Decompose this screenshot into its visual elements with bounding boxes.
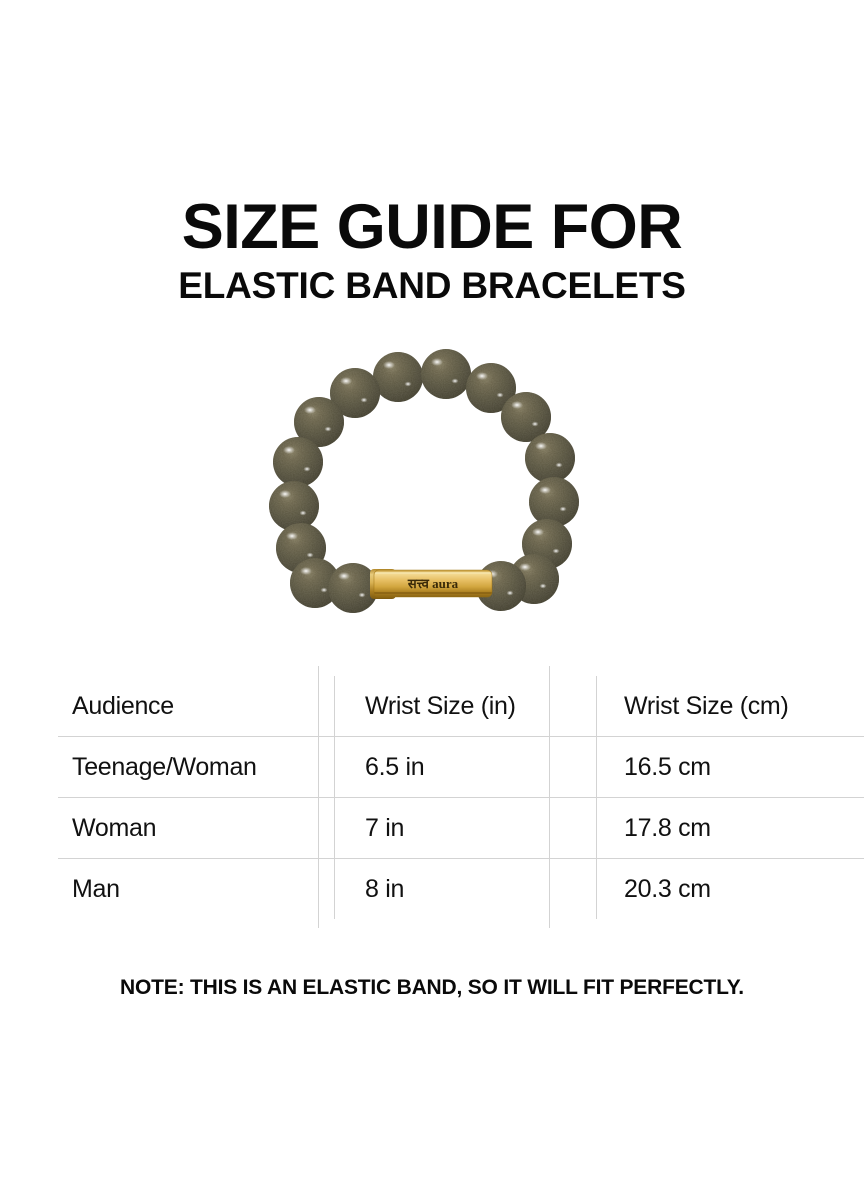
cell-wrist-cm: 17.8 cm <box>597 798 864 859</box>
cell-wrist-cm: 20.3 cm <box>597 859 864 920</box>
table-row: Woman 7 in 17.8 cm <box>58 798 864 859</box>
gold-bar-charm: सत्त्व aura <box>370 569 492 599</box>
column-header-audience: Audience <box>58 676 335 737</box>
cell-audience: Teenage/Woman <box>58 737 335 798</box>
cell-audience: Woman <box>58 798 335 859</box>
cell-wrist-in: 8 in <box>335 859 597 920</box>
title-line-1: SIZE GUIDE FOR <box>0 196 864 259</box>
table-row: Man 8 in 20.3 cm <box>58 859 864 920</box>
cell-wrist-in: 6.5 in <box>335 737 597 798</box>
cell-wrist-cm: 16.5 cm <box>597 737 864 798</box>
engraving-text: सत्त्व aura <box>407 576 459 591</box>
table-row: Teenage/Woman 6.5 in 16.5 cm <box>58 737 864 798</box>
bracelet-beads: सत्त्व aura <box>269 349 579 613</box>
cell-audience: Man <box>58 859 335 920</box>
table-header-row: Audience Wrist Size (in) Wrist Size (cm) <box>58 676 864 737</box>
column-header-wrist-in: Wrist Size (in) <box>335 676 597 737</box>
size-guide-table: Audience Wrist Size (in) Wrist Size (cm)… <box>58 676 864 919</box>
note-text: NOTE: THIS IS AN ELASTIC BAND, SO IT WIL… <box>0 976 864 1000</box>
column-header-wrist-cm: Wrist Size (cm) <box>597 676 864 737</box>
title-line-2: ELASTIC BAND BRACELETS <box>0 267 864 304</box>
product-photo-bracelet: सत्त्व aura <box>258 348 606 644</box>
cell-wrist-in: 7 in <box>335 798 597 859</box>
page-title: SIZE GUIDE FOR ELASTIC BAND BRACELETS <box>0 196 864 304</box>
